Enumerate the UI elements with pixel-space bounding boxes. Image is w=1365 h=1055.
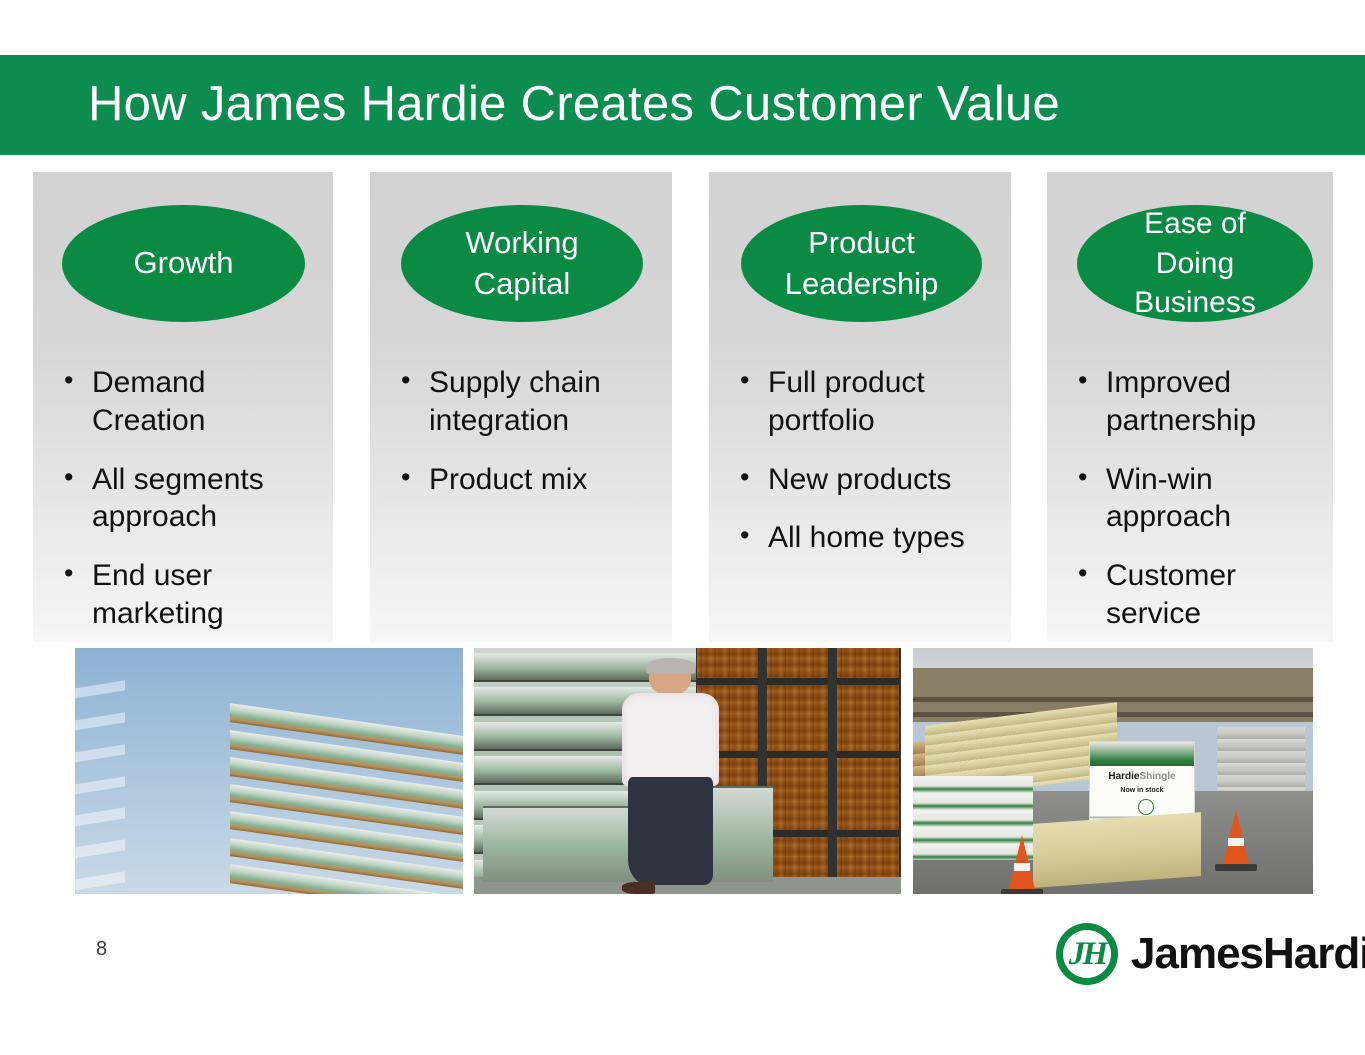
title-bar: How James Hardie Creates Customer Value: [0, 55, 1365, 155]
traffic-cone-icon: [1009, 835, 1035, 889]
pillar-heading-ellipse-ease-of-doing-business: Ease ofDoingBusiness: [1077, 205, 1313, 322]
pillar-heading-ellipse-working-capital: WorkingCapital: [401, 205, 643, 322]
list-item: Full product portfolio: [736, 364, 997, 440]
james-hardie-logo: JH JamesHardie ™: [1056, 923, 1365, 985]
pillar-panel-product-leadership: ProductLeadership Full product portfolio…: [709, 172, 1011, 642]
traffic-cone-icon: [1223, 810, 1249, 864]
pillar-bullet-list-working-capital: Supply chain integration Product mix: [397, 364, 658, 519]
list-item: Customer service: [1074, 557, 1319, 633]
pillar-bullet-list-product-leadership: Full product portfolio New products All …: [736, 364, 997, 578]
list-item: All home types: [736, 519, 997, 557]
list-item: Improved partnership: [1074, 364, 1319, 440]
pillar-heading-label: WorkingCapital: [455, 223, 588, 305]
pillar-heading-ellipse-product-leadership: ProductLeadership: [741, 205, 982, 322]
list-item: Product mix: [397, 461, 658, 499]
list-item: Supply chain integration: [397, 364, 658, 440]
logo-wordmark: JamesHardie ™: [1131, 929, 1365, 979]
pillar-panel-growth: Growth Demand Creation All segments appr…: [33, 172, 333, 642]
photo-lumber-yard-hardieshingle: HardieShingle Now in stock: [913, 648, 1313, 894]
pillar-panel-working-capital: WorkingCapital Supply chain integration …: [370, 172, 672, 642]
logo-wordmark-text: JamesHardie: [1131, 929, 1365, 978]
pillar-bullet-list-growth: Demand Creation All segments approach En…: [60, 364, 319, 654]
page-title: How James Hardie Creates Customer Value: [88, 76, 1060, 132]
slide: How James Hardie Creates Customer Value …: [0, 0, 1365, 1055]
pillar-bullet-list-ease-of-doing-business: Improved partnership Win-win approach Cu…: [1074, 364, 1319, 654]
photo-man-with-product-pallets: [474, 648, 901, 894]
list-item: Demand Creation: [60, 364, 319, 440]
pillar-heading-label: ProductLeadership: [775, 223, 948, 305]
pillar-panel-ease-of-doing-business: Ease ofDoingBusiness Improved partnershi…: [1047, 172, 1333, 642]
list-item: All segments approach: [60, 461, 319, 537]
pillar-heading-label: Growth: [124, 243, 244, 284]
jh-monogram-text: JH: [1056, 923, 1118, 985]
list-item: Win-win approach: [1074, 461, 1319, 537]
pillar-heading-ellipse-growth: Growth: [62, 205, 305, 322]
sign-logo-icon: [1138, 799, 1154, 815]
page-number: 8: [96, 938, 107, 961]
hardieshingle-sign: HardieShingle Now in stock: [1089, 741, 1195, 817]
photo-stacked-hardieplank-pallets: [75, 648, 463, 894]
sign-subtitle-text: Now in stock: [1096, 787, 1188, 794]
pillar-heading-label: Ease ofDoingBusiness: [1124, 204, 1266, 323]
jh-monogram-icon: JH: [1056, 923, 1118, 985]
sign-brand-text: HardieShingle: [1096, 772, 1188, 782]
list-item: New products: [736, 461, 997, 499]
pillar-panels: Growth Demand Creation All segments appr…: [33, 172, 1333, 642]
list-item: End user marketing: [60, 557, 319, 633]
